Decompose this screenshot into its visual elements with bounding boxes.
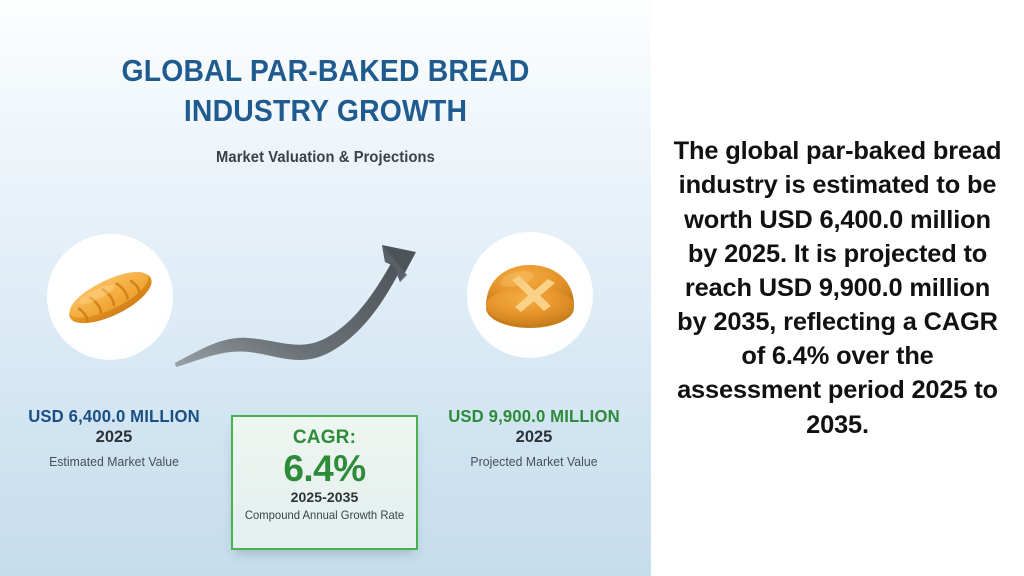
baguette-loaf-icon <box>47 234 173 360</box>
upward-growth-arrow-icon <box>160 228 450 390</box>
infographic-page: GLOBAL PAR-BAKED BREAD INDUSTRY GROWTH M… <box>0 0 1024 576</box>
summary-panel: The global par-baked bread industry is e… <box>651 0 1024 576</box>
left-bread-medallion <box>47 234 173 360</box>
cagr-period: 2025-2035 <box>233 489 416 505</box>
cagr-value: 6.4% <box>233 448 416 489</box>
infographic-panel: GLOBAL PAR-BAKED BREAD INDUSTRY GROWTH M… <box>0 0 651 576</box>
left-value-block: USD 6,400.0 MILLION 2025 Estimated Marke… <box>0 406 230 469</box>
right-value-block: USD 9,900.0 MILLION 2025 Projected Marke… <box>418 406 650 469</box>
right-value-amount: USD 9,900.0 MILLION <box>423 406 646 427</box>
cagr-label: CAGR: <box>233 428 416 449</box>
right-bread-medallion <box>467 232 593 358</box>
round-boule-loaf-icon <box>467 232 593 358</box>
page-subtitle: Market Valuation & Projections <box>16 149 634 167</box>
left-value-year: 2025 <box>0 428 230 448</box>
cagr-card: CAGR: 6.4% 2025-2035 Compound Annual Gro… <box>231 415 418 550</box>
right-value-caption: Projected Market Value <box>421 455 646 469</box>
right-value-year: 2025 <box>418 428 650 448</box>
summary-text: The global par-baked bread industry is e… <box>673 134 1002 441</box>
left-value-caption: Estimated Market Value <box>1 455 226 469</box>
title-block: GLOBAL PAR-BAKED BREAD INDUSTRY GROWTH M… <box>0 52 651 167</box>
cagr-caption: Compound Annual Growth Rate <box>236 509 414 522</box>
left-value-amount: USD 6,400.0 MILLION <box>3 406 226 427</box>
page-title-line-2: INDUSTRY GROWTH <box>23 92 628 132</box>
page-title-line-1: GLOBAL PAR-BAKED BREAD <box>23 52 628 92</box>
